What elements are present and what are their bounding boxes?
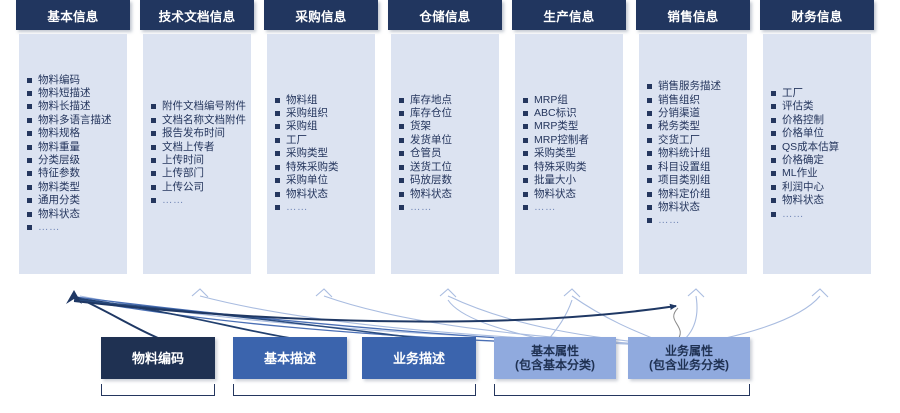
summary-boxes: 物料编码 基本描述 业务描述 基本属性 (包含基本分类) 业务属性 (包含业务分…	[0, 0, 900, 413]
bracket-material-code	[101, 384, 215, 396]
summary-box-label: 物料编码	[132, 351, 184, 366]
summary-box-label: 业务属性 (包含业务分类)	[649, 344, 729, 372]
summary-box-label: 基本描述	[264, 351, 316, 366]
summary-box-label: 基本属性 (包含基本分类)	[515, 344, 595, 372]
bracket-attributes	[494, 384, 750, 396]
summary-box-basic-attributes[interactable]: 基本属性 (包含基本分类)	[494, 337, 616, 379]
summary-box-label: 业务描述	[393, 351, 445, 366]
summary-box-business-attributes[interactable]: 业务属性 (包含业务分类)	[628, 337, 750, 379]
bracket-descriptions	[233, 384, 476, 396]
summary-box-material-code[interactable]: 物料编码	[101, 337, 215, 379]
diagram-canvas: 基本信息 物料编码 物料短描述 物料长描述 物料多语言描述 物料规格 物料重量 …	[0, 0, 900, 413]
summary-box-basic-description[interactable]: 基本描述	[233, 337, 347, 379]
summary-box-business-description[interactable]: 业务描述	[362, 337, 476, 379]
